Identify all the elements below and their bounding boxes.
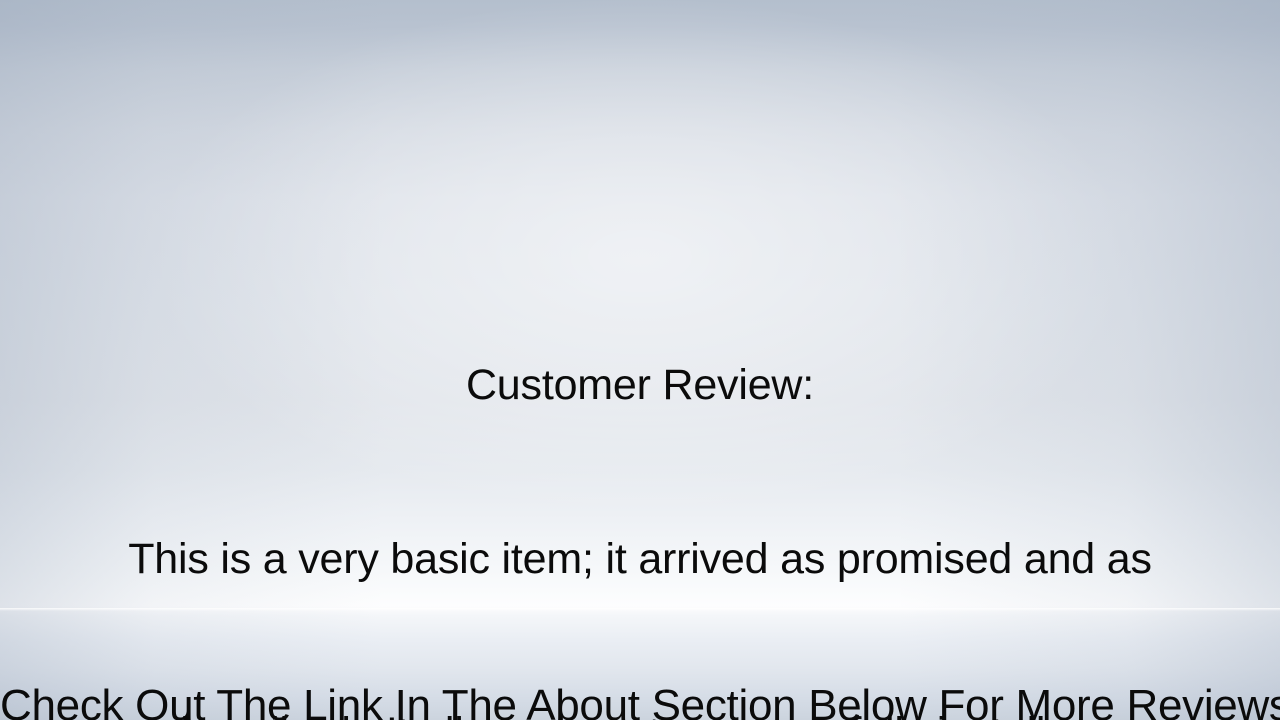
review-text-block: Customer Review: This is a very basic it… [0,240,1280,720]
review-body-line-1: This is a very basic item; it arrived as… [0,530,1280,588]
slide-canvas: Customer Review: This is a very basic it… [0,0,1280,720]
review-heading: Customer Review: [0,356,1280,414]
call-to-action-text: Check Out The Link In The About Section … [0,678,1280,720]
